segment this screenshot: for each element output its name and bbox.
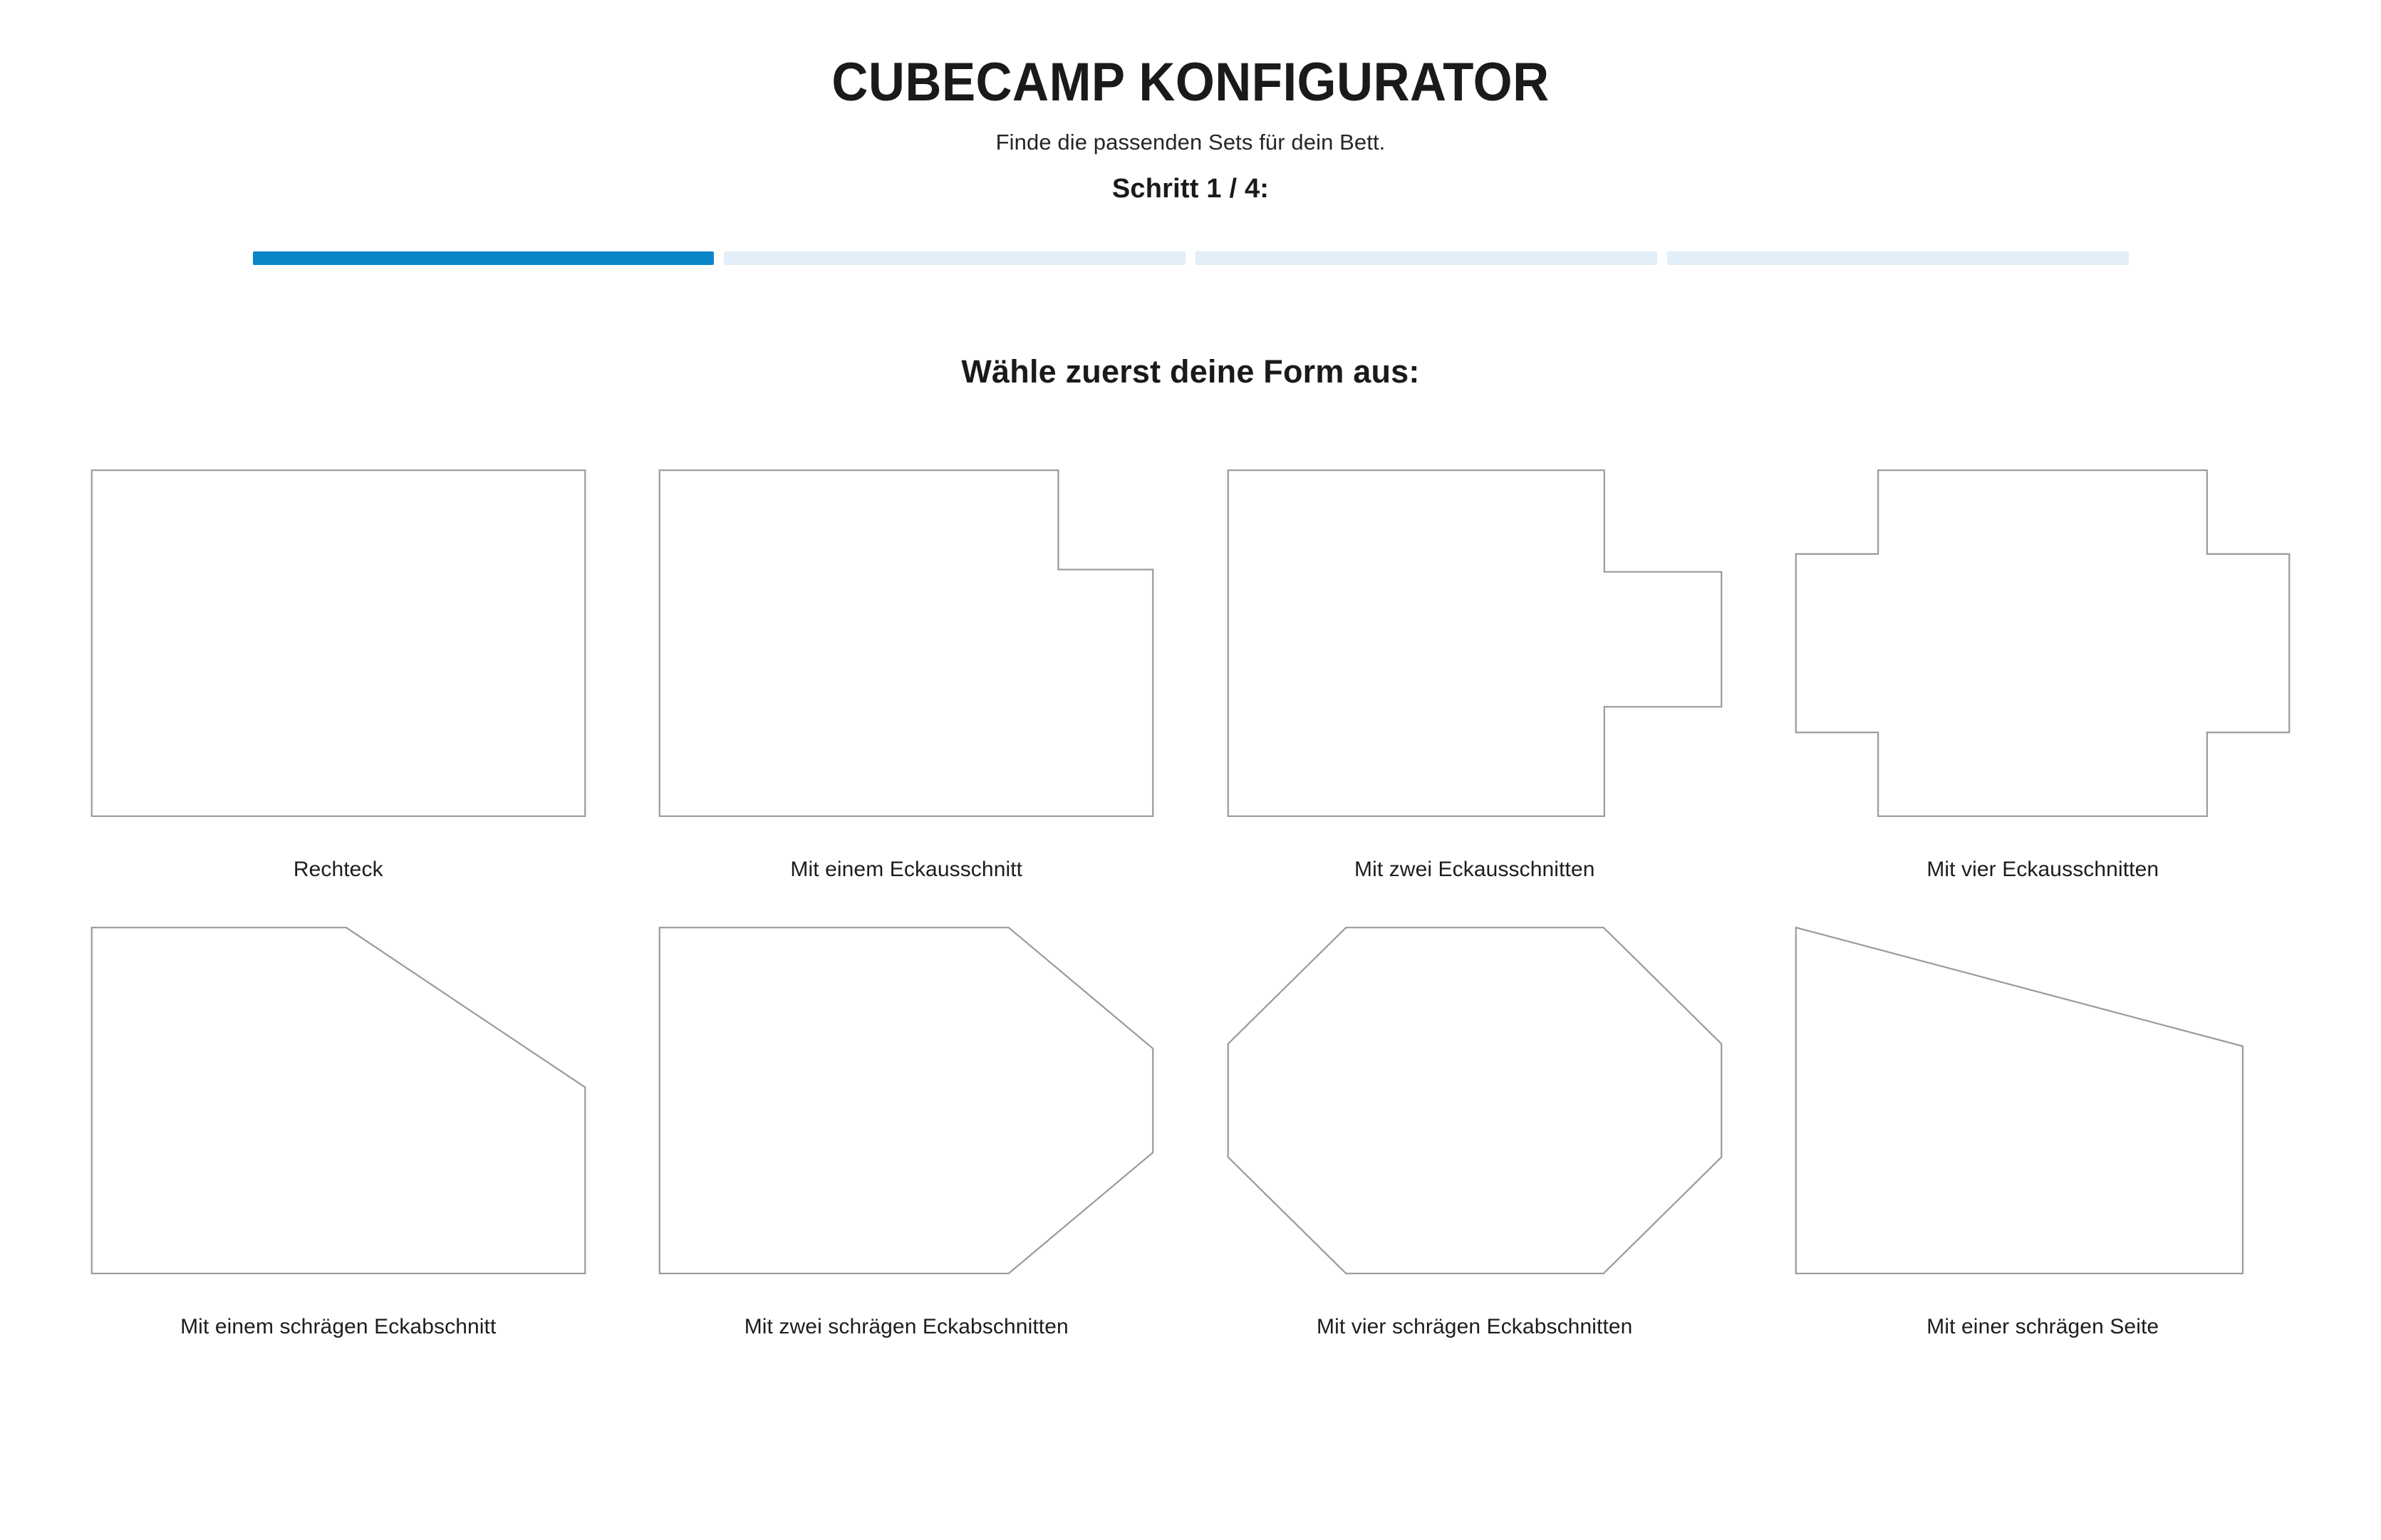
progress-segment-3 xyxy=(1195,251,1657,265)
one-corner-notch-shape-icon xyxy=(657,469,1156,818)
shape-option-vier-schraege-eckabschnitte[interactable]: Mit vier schrägen Eckabschnitten xyxy=(1190,926,1759,1339)
section-heading: Wähle zuerst deine Form aus: xyxy=(0,353,2381,390)
one-bevel-corner-shape-icon xyxy=(89,926,588,1275)
rectangle-shape-icon xyxy=(89,469,588,818)
shape-option-label: Rechteck xyxy=(294,858,383,882)
page-subtitle: Finde die passenden Sets für dein Bett. xyxy=(0,130,2381,155)
page-header: CUBECAMP KONFIGURATOR Finde die passende… xyxy=(0,0,2381,204)
shape-option-zwei-schraege-eckabschnitte[interactable]: Mit zwei schrägen Eckabschnitten xyxy=(623,926,1191,1339)
shape-options-grid: Rechteck Mit einem Eckausschnitt Mit zwe… xyxy=(54,469,2327,1339)
progress-segment-2 xyxy=(724,251,1186,265)
configurator-page: CUBECAMP KONFIGURATOR Finde die passende… xyxy=(0,0,2381,1540)
shape-option-ein-schraeger-eckabschnitt[interactable]: Mit einem schrägen Eckabschnitt xyxy=(54,926,623,1339)
two-bevel-corner-shape-icon xyxy=(657,926,1156,1275)
step-indicator-label: Schritt 1 / 4: xyxy=(0,174,2381,204)
shape-option-label: Mit vier schrägen Eckabschnitten xyxy=(1317,1315,1632,1339)
octagon-shape-icon xyxy=(1225,926,1724,1275)
slanted-side-shape-icon xyxy=(1793,926,2292,1275)
progress-segment-1 xyxy=(253,251,715,265)
shape-option-zwei-eckausschnitte[interactable]: Mit zwei Eckausschnitten xyxy=(1190,469,1759,882)
shape-option-label: Mit einer schrägen Seite xyxy=(1926,1315,2159,1339)
shape-option-label: Mit einem Eckausschnitt xyxy=(790,858,1022,882)
progress-bar xyxy=(253,251,2129,265)
page-title: CUBECAMP KONFIGURATOR xyxy=(83,56,2298,110)
shape-option-label: Mit vier Eckausschnitten xyxy=(1926,858,2159,882)
shape-option-label: Mit einem schrägen Eckabschnitt xyxy=(180,1315,496,1339)
four-corner-notch-shape-icon xyxy=(1793,469,2292,818)
shape-option-eine-schraege-seite[interactable]: Mit einer schrägen Seite xyxy=(1759,926,2328,1339)
shape-option-rechteck[interactable]: Rechteck xyxy=(54,469,623,882)
shape-option-ein-eckausschnitt[interactable]: Mit einem Eckausschnitt xyxy=(623,469,1191,882)
two-corner-notch-shape-icon xyxy=(1225,469,1724,818)
shape-option-label: Mit zwei schrägen Eckabschnitten xyxy=(745,1315,1069,1339)
shape-option-label: Mit zwei Eckausschnitten xyxy=(1354,858,1595,882)
shape-option-vier-eckausschnitte[interactable]: Mit vier Eckausschnitten xyxy=(1759,469,2328,882)
progress-segment-4 xyxy=(1667,251,2129,265)
